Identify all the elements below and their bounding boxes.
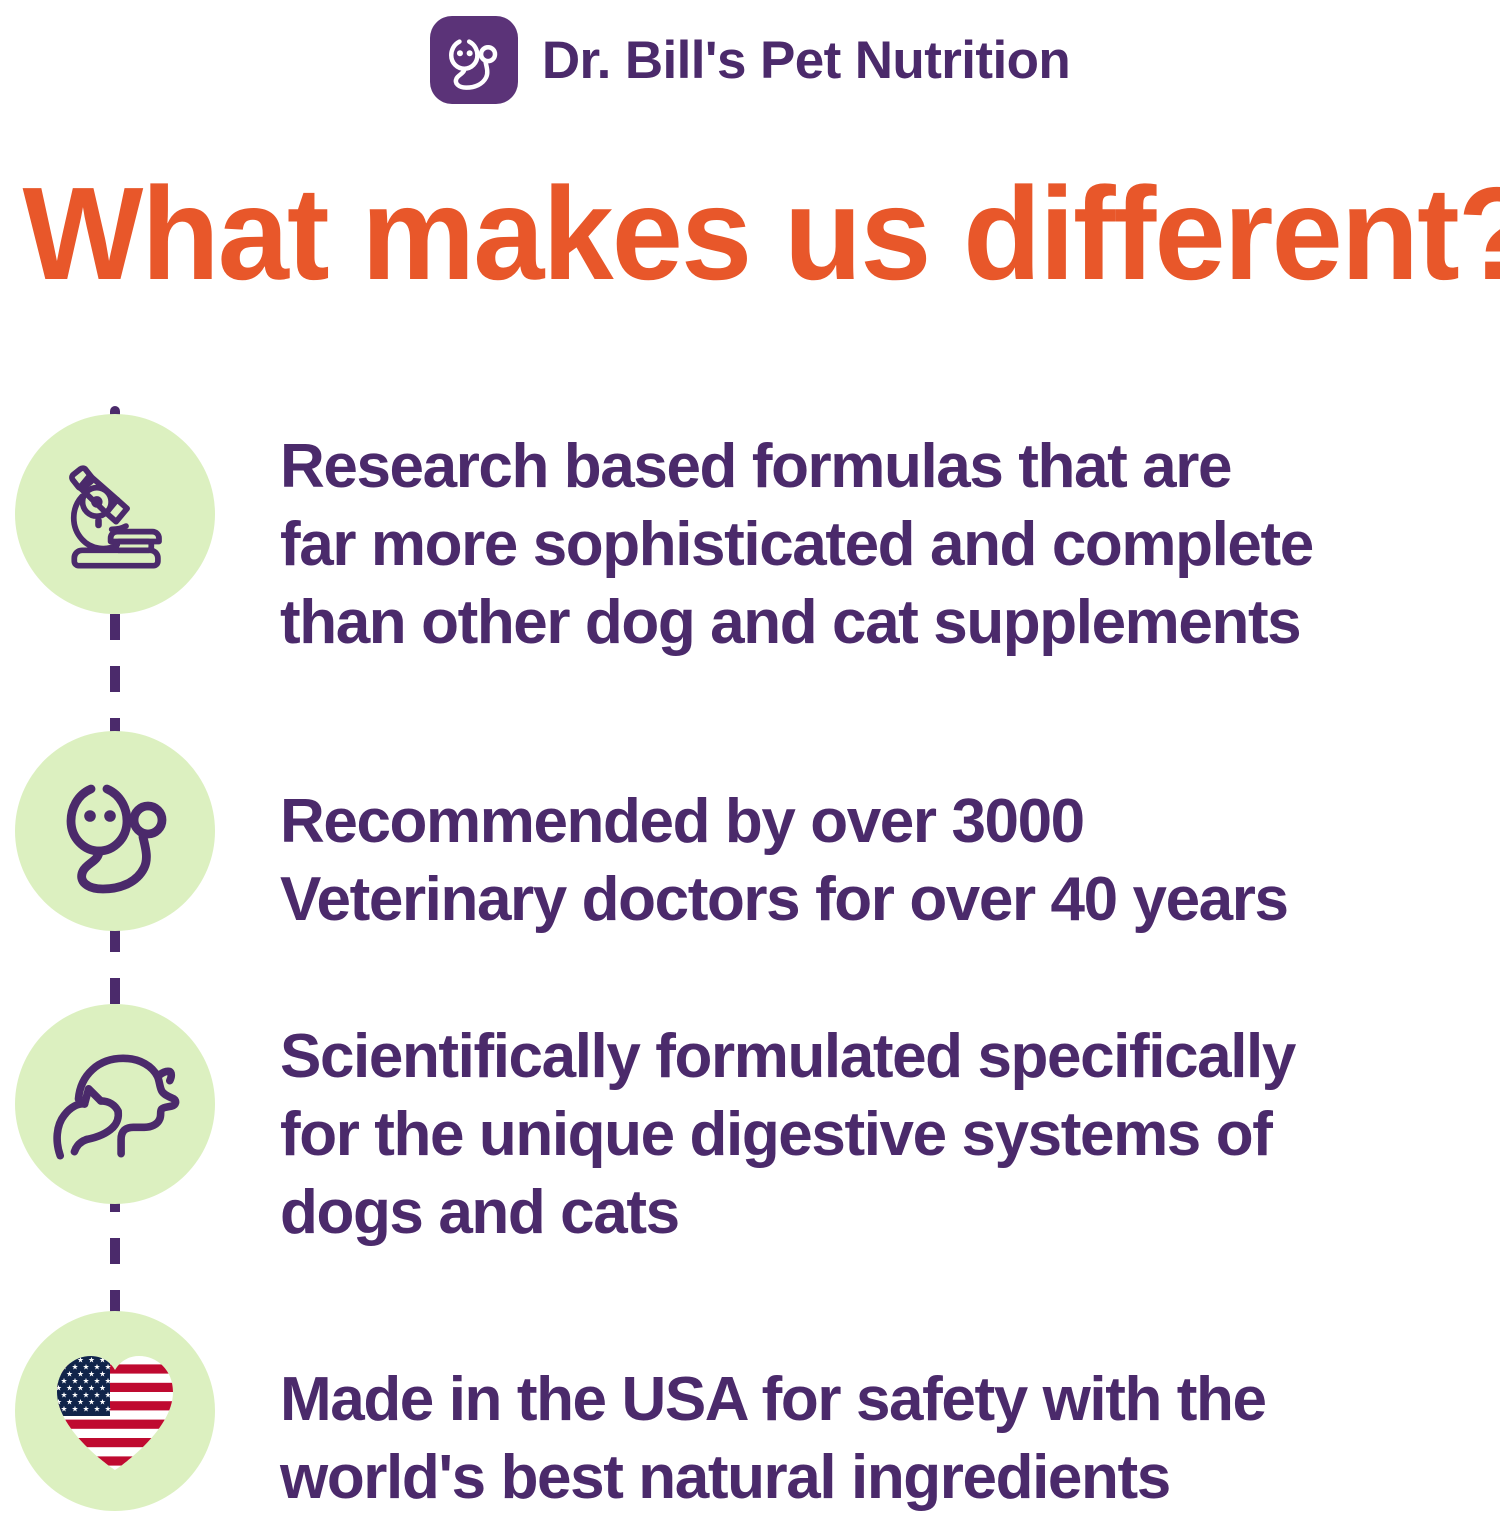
logo-mark [430,16,518,104]
brand-name: Dr. Bill's Pet Nutrition [542,34,1070,87]
stethoscope-pet-face-icon [443,29,505,91]
feature-icon-badge [15,1004,215,1204]
list-item: Research based formulas that are far mor… [0,414,1500,662]
list-item: Recommended by over 3000 Veterinary doct… [0,731,1500,939]
feature-icon-badge [15,731,215,931]
feature-icon-badge [15,1311,215,1511]
list-item: Scientifically formulated specifically f… [0,1004,1500,1252]
dog-and-cat-icon [44,1038,186,1170]
infographic-page: Dr. Bill's Pet Nutrition What makes us d… [0,0,1500,1500]
brand-header: Dr. Bill's Pet Nutrition [0,8,1500,112]
list-item-text: Made in the USA for safety with the worl… [280,1311,1470,1517]
page-title: What makes us different? [23,168,1478,300]
list-item-text: Scientifically formulated specifically f… [280,1004,1470,1252]
usa-flag-heart-icon [47,1346,183,1476]
microscope-icon [49,448,181,580]
feature-list: Research based formulas that are far mor… [0,406,1500,1500]
list-item-text: Recommended by over 3000 Veterinary doct… [280,731,1470,939]
feature-icon-badge [15,414,215,614]
list-item: Made in the USA for safety with the worl… [0,1311,1500,1517]
list-item-text: Research based formulas that are far mor… [280,414,1470,662]
stethoscope-pet-face-icon [51,767,179,895]
